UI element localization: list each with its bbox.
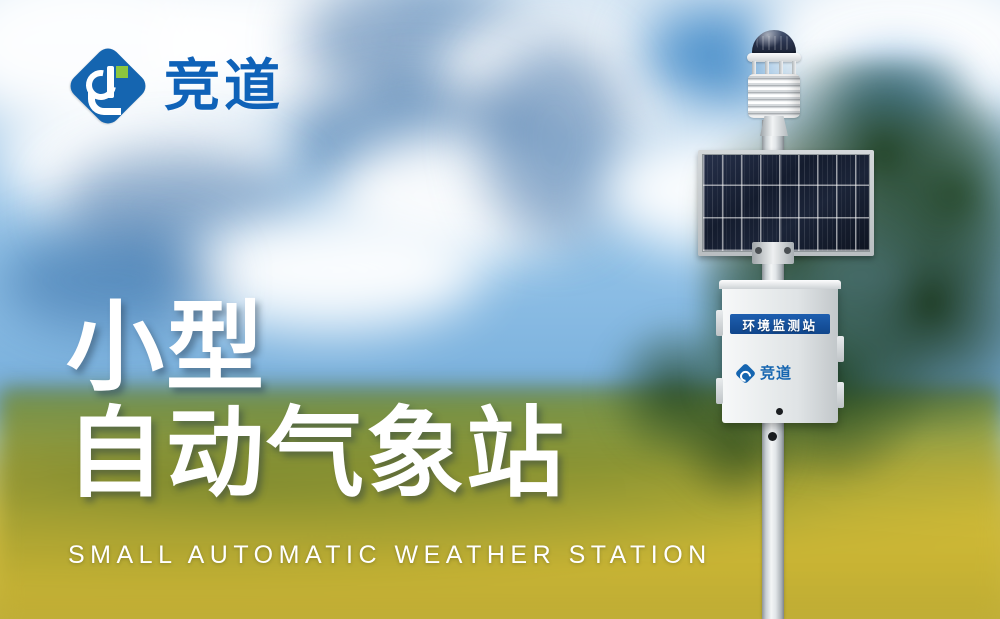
hero-subtitle: SMALL AUTOMATIC WEATHER STATION <box>68 541 712 570</box>
title-line-2: 自动气象站 <box>66 402 566 506</box>
enclosure-banner: 环境监测站 <box>730 314 830 334</box>
hero-title: 小型 自动气象站 <box>66 296 566 506</box>
enclosure-mount-ear <box>716 310 723 336</box>
panel-mount-bracket <box>752 242 794 264</box>
jingdao-diamond-logo-icon <box>66 44 150 128</box>
sensor-neck <box>760 116 788 136</box>
title-line-1: 小型 <box>66 296 566 400</box>
jingdao-diamond-logo-icon <box>736 364 755 383</box>
solar-cells <box>702 154 870 252</box>
brand-name: 竞道 <box>164 58 284 114</box>
enclosure-banner-text: 环境监测站 <box>742 315 817 334</box>
enclosure-mount-ear <box>837 336 844 362</box>
enclosure-mount-ear <box>716 378 723 404</box>
radiation-shield <box>748 74 800 118</box>
logo-diamond-shape <box>735 363 756 384</box>
enclosure-lid <box>719 280 841 289</box>
weather-station-device: 环境监测站 竞道 <box>690 28 880 619</box>
enclosure-brand-name: 竞道 <box>760 366 792 381</box>
promo-banner: 竞道 小型 自动气象站 SMALL AUTOMATIC WEATHER STAT… <box>0 0 1000 619</box>
pole-bolt <box>768 432 777 441</box>
logo-j-glyph <box>107 66 114 98</box>
enclosure-mount-ear <box>837 382 844 408</box>
logo-green-square <box>116 66 128 78</box>
solar-panel-icon <box>698 150 874 256</box>
ultrasonic-weather-sensor-icon <box>738 28 810 140</box>
enclosure-box: 环境监测站 竞道 <box>722 286 838 423</box>
brand-logo[interactable]: 竞道 <box>66 44 284 128</box>
enclosure-indicator <box>776 408 783 415</box>
enclosure-brand-logo: 竞道 <box>736 364 792 383</box>
